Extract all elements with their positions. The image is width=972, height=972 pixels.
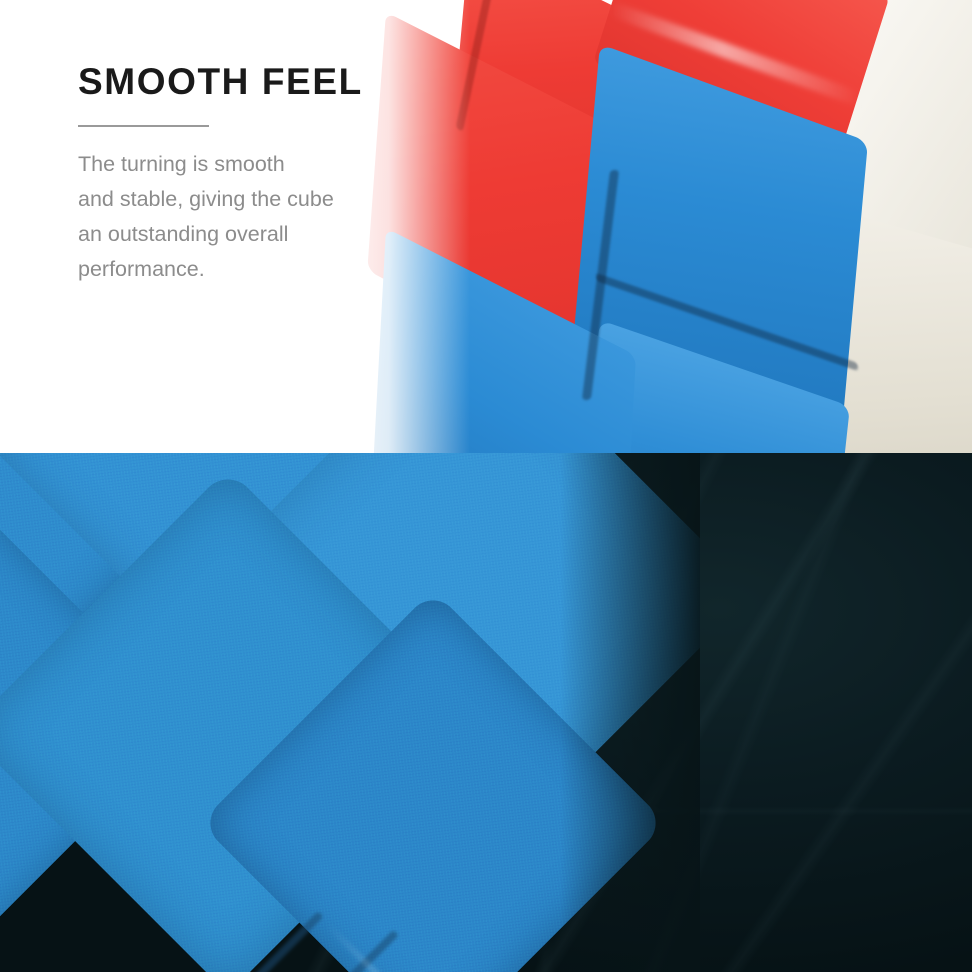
smooth-feel-divider bbox=[78, 125, 209, 127]
smooth-feel-body-line-1: The turning is smooth bbox=[78, 147, 418, 182]
smooth-feel-heading: SMOOTH FEEL bbox=[78, 62, 418, 101]
smooth-feel-body-line-3: an outstanding overall bbox=[78, 217, 418, 252]
smooth-feel-body: The turning is smooth and stable, giving… bbox=[78, 147, 418, 286]
smooth-feel-body-line-4: performance. bbox=[78, 252, 418, 287]
cube-closeup-photo-bottom bbox=[0, 453, 700, 972]
smooth-feel-body-line-2: and stable, giving the cube bbox=[78, 182, 418, 217]
panel-smooth-feel: SMOOTH FEEL The turning is smooth and st… bbox=[0, 0, 972, 453]
product-feature-page: SMOOTH FEEL The turning is smooth and st… bbox=[0, 0, 972, 972]
panel-frosted-design: FROSTED DESIGN Frosted design on the sur… bbox=[0, 453, 972, 972]
smooth-feel-text-block: SMOOTH FEEL The turning is smooth and st… bbox=[78, 62, 418, 287]
photo-fade-to-dark bbox=[560, 453, 700, 972]
